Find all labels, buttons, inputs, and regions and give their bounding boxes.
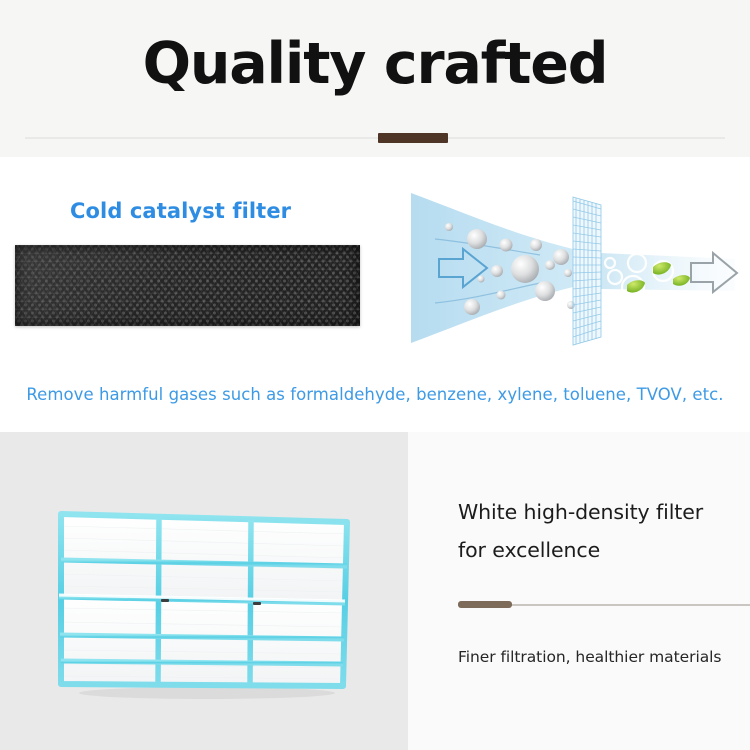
honeycomb-carbon-panel-image <box>15 245 360 326</box>
white-filter-heading-line1: White high-density filter <box>458 494 743 532</box>
page-header: Quality crafted <box>0 0 750 157</box>
white-filter-section: White high-density filter for excellence… <box>0 432 750 750</box>
airflow-filtration-diagram <box>405 187 745 347</box>
white-filter-image-panel <box>0 432 408 750</box>
white-filter-text-panel: White high-density filter for excellence… <box>408 432 750 750</box>
filter-mesh-screen <box>573 197 601 345</box>
white-filter-accent-bar <box>458 601 512 608</box>
cold-catalyst-title: Cold catalyst filter <box>70 199 291 223</box>
white-filter-heading-line2: for excellence <box>458 532 743 570</box>
cold-catalyst-section: Cold catalyst filter <box>0 157 750 432</box>
header-accent-bar <box>378 133 448 143</box>
header-divider <box>25 137 725 139</box>
page-title: Quality crafted <box>0 33 750 97</box>
white-high-density-filter-panel-image <box>55 504 355 700</box>
white-filter-heading: White high-density filter for excellence <box>458 494 743 570</box>
white-filter-subtext: Finer filtration, healthier materials <box>458 648 750 666</box>
cold-catalyst-caption: Remove harmful gases such as formaldehyd… <box>0 385 750 404</box>
